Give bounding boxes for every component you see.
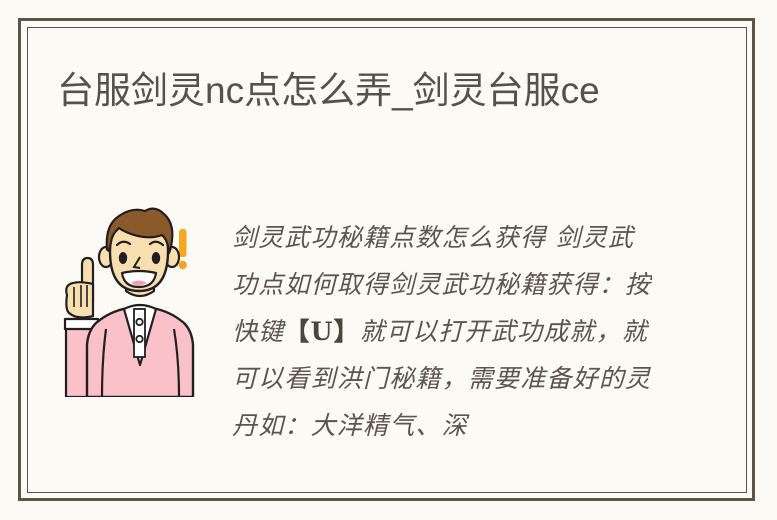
exclamation-mark-icon <box>179 229 187 269</box>
page-title: 台服剑灵nc点怎么弄_剑灵台服ce <box>57 62 657 120</box>
article-body: 剑灵武功秘籍点数怎么获得 剑灵武功点如何取得剑灵武功秘籍获得：按快键【U】就可以… <box>232 214 652 450</box>
cartoon-man-pointing-up-illustration <box>62 205 207 397</box>
pointing-hand <box>66 258 93 317</box>
page-root: 台服剑灵nc点怎么弄_剑灵台服ce <box>0 0 777 520</box>
article-line-4: 就可以打开武功 <box>360 317 543 346</box>
keycap-u: 【U】 <box>284 317 359 346</box>
article-line-1: 剑灵武功秘籍点数怎么获得 剑灵 <box>232 223 608 252</box>
